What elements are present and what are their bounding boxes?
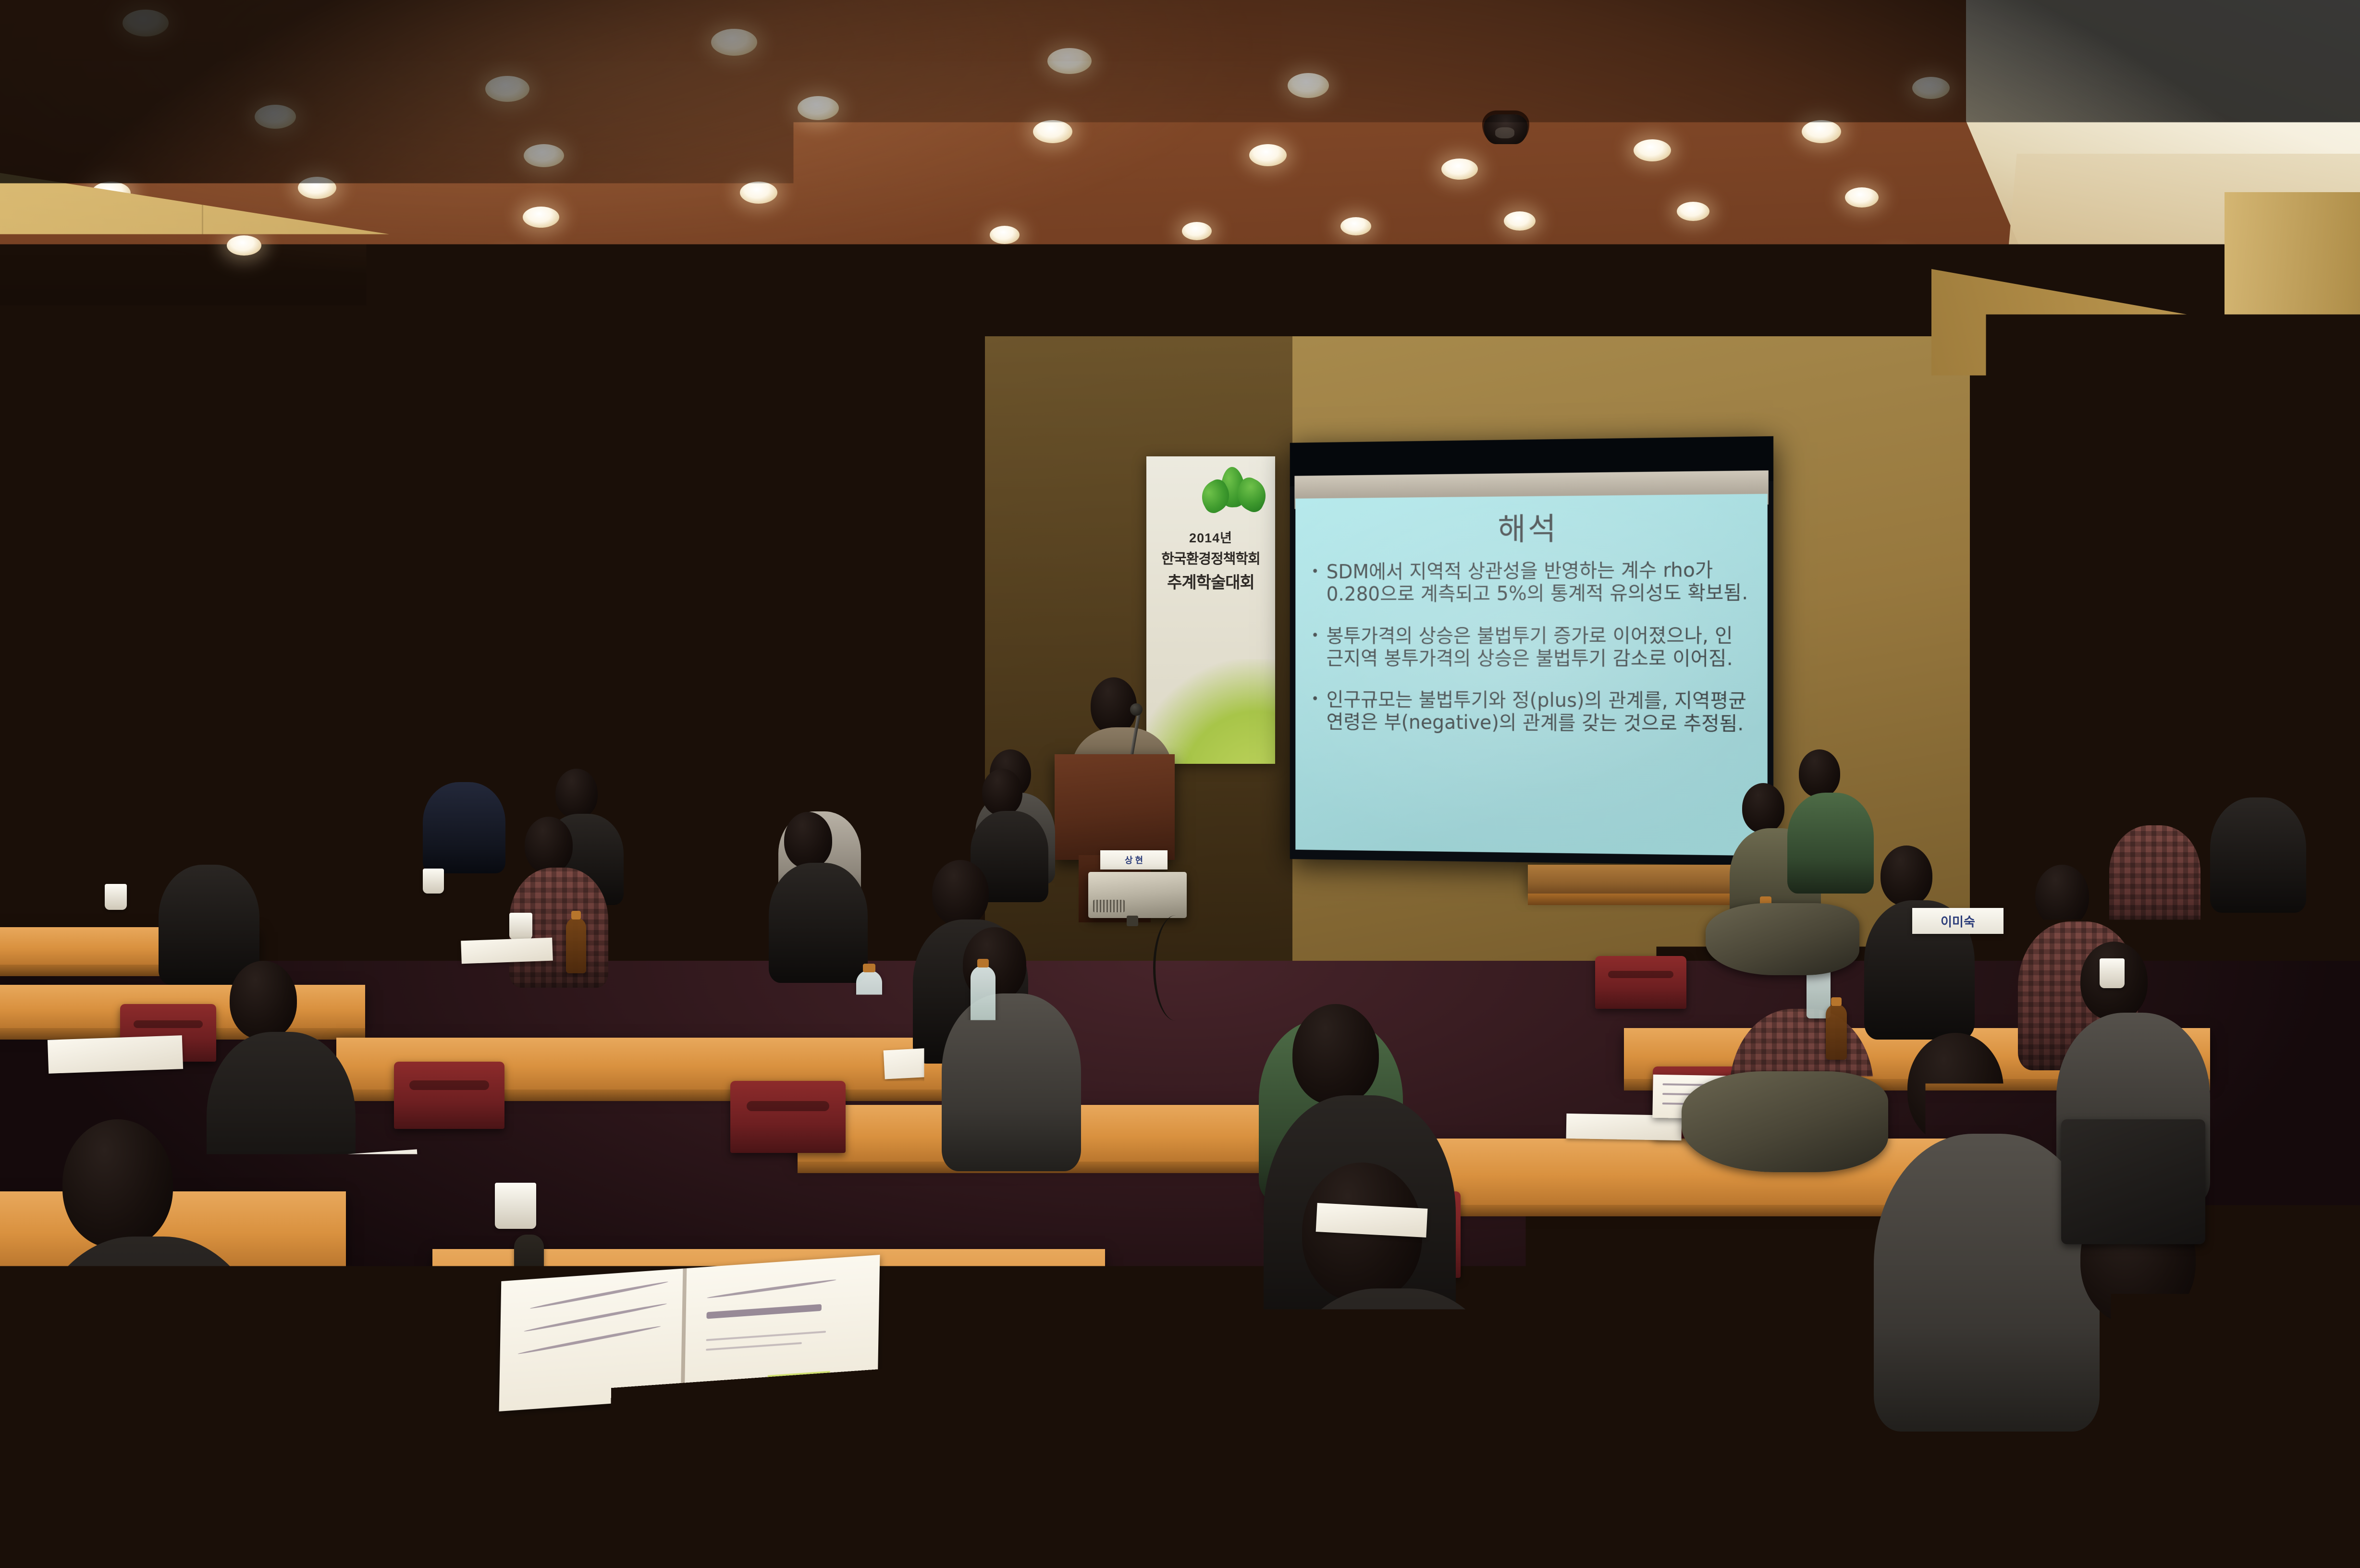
downlight (1384, 288, 1412, 305)
handout-paper (461, 938, 553, 964)
downlight (524, 144, 564, 167)
downlight (990, 226, 1020, 244)
proceedings-booklet (1551, 948, 1711, 991)
downlight (1047, 287, 1075, 304)
emergency-exit-sign: 비상구 (1945, 458, 2016, 497)
sponsor-1-name-en: The Seoul Institute (1818, 686, 1858, 691)
downlight (1441, 159, 1478, 180)
host-logo-icon: ▲ (1790, 637, 1805, 651)
chair[interactable] (394, 1062, 504, 1129)
downlight (1249, 144, 1287, 166)
leaf-logo-icon (1198, 465, 1270, 517)
paper-cup (509, 913, 532, 940)
downlight (1634, 139, 1671, 161)
handout-paper (1537, 926, 1634, 952)
sponsor-1-name-ko: 서울연구원 (1818, 679, 1858, 686)
downlight (298, 177, 336, 199)
banner-right-org: 한국환경정책학회 (1782, 519, 1912, 540)
water-bottle (856, 970, 882, 1042)
paper-cup (2100, 958, 2125, 988)
downlight (798, 96, 839, 120)
name-placard: 상 현 (1100, 850, 1168, 870)
downlight (1033, 120, 1072, 143)
microphone-head-icon (1130, 703, 1143, 716)
downlight (1557, 283, 1586, 301)
downlight (1879, 259, 1910, 278)
bullet-marker-icon: • (1311, 562, 1319, 606)
conference-room-scene: 비상구 2014년 한국환경정책학회 추계학술대회 일 시 : 2014년 10… (0, 0, 2360, 1568)
name-placard: 이미숙 (1912, 908, 2004, 934)
shoulder-bag (519, 1090, 649, 1191)
banner-left-org: 한국환경정책학회 (1151, 548, 1270, 568)
proceedings-booklet (927, 1054, 1087, 1098)
slide-bullet-2-text: 봉투가격의 상승은 불법투기 증가로 이어졌으나, 인근지역 봉투가격의 상승은… (1327, 625, 1751, 671)
banner-right-year: 2014년 (1782, 499, 1912, 518)
banner-left-sub: 추계학술대회 (1151, 569, 1270, 593)
beverage-bottle (1826, 1004, 1847, 1060)
banner-left: 2014년 한국환경정책학회 추계학술대회 일 시 : 2014년 10월 21… (1146, 456, 1275, 764)
door-closer (2032, 519, 2104, 535)
banner-left-year: 2014년 (1151, 527, 1270, 546)
downlight (1845, 187, 1879, 208)
slide-bullet-1-text: SDM에서 지역적 상관성을 반영하는 계수 rho가 0.280으로 계측되고… (1327, 559, 1751, 606)
slide-bullet-3-text: 인구규모는 불법투기와 정(plus)의 관계를, 지역평균연령은 부(nega… (1327, 689, 1751, 736)
ceiling-dome-camera-icon (1484, 114, 1528, 144)
water-bottle (971, 966, 996, 1036)
sponsor-label: 후 원 : (1790, 664, 1912, 674)
banner-left-place-label: 장 소 : (1158, 693, 1270, 702)
downlight (523, 207, 559, 228)
downlight (1677, 202, 1709, 221)
paper-cup (1624, 882, 1646, 907)
slide-bullet-1: • SDM에서 지역적 상관성을 반영하는 계수 rho가 0.280으로 계측… (1311, 559, 1751, 606)
banner-right-sub: 추계학술대회 (1782, 542, 1912, 567)
paper-cup (105, 884, 127, 910)
host-name: 한국환경정책학회 (1808, 638, 1868, 650)
downlight (485, 76, 529, 102)
draped-coat (1682, 1071, 1888, 1172)
sponsor-2-name-ko: 한국환경산업기술원 (1821, 701, 1873, 710)
slide-title: 해석 (1311, 512, 1751, 547)
downlight (711, 29, 757, 56)
downlight (1710, 274, 1740, 291)
running-person-icon (1951, 469, 1960, 485)
leaf-logo-icon (1835, 430, 1912, 486)
seoul-institute-logo-icon (1790, 678, 1814, 691)
downlight (1047, 48, 1092, 74)
downlight (255, 105, 296, 129)
handout-paper (1316, 1203, 1428, 1237)
bullet-marker-icon: • (1311, 689, 1319, 734)
bullet-marker-icon: • (1311, 625, 1319, 670)
keiti-logo: KEITI (1790, 698, 1817, 712)
exit-sign-label: 비상구 (1962, 474, 1976, 481)
downlight (1912, 77, 1950, 99)
banner-left-date-label: 일 시 : (1158, 656, 1270, 666)
paper-cup (423, 869, 444, 894)
downlight (1802, 120, 1841, 143)
open-proceedings-booklet-front (499, 1255, 880, 1411)
downlight (1288, 73, 1329, 98)
slide-bullet-2: • 봉투가격의 상승은 불법투기 증가로 이어졌으나, 인근지역 봉투가격의 상… (1311, 625, 1751, 671)
banner-left-date-value: 2014년 10월 21일(화) 11:00 ~ 17:30 (1158, 667, 1270, 685)
downlight (123, 10, 169, 37)
beverage-bottle (566, 918, 586, 973)
slide-bullet-3: • 인구규모는 불법투기와 정(plus)의 관계를, 지역평균연령은 부(ne… (1311, 689, 1751, 736)
downlight (1182, 222, 1212, 240)
downlight (1504, 211, 1536, 231)
downlight (706, 269, 738, 287)
backpack (2061, 1119, 2205, 1244)
downlight (1340, 217, 1371, 235)
downlight (740, 182, 777, 204)
podium (1055, 754, 1175, 860)
draped-coat (1706, 903, 1859, 975)
banner-right: 2014년 한국환경정책학회 추계학술대회 주 최 : ▲ 한국환경정책학회 후… (1778, 423, 1917, 807)
handout-paper (48, 1035, 183, 1074)
downlight (894, 279, 923, 296)
handout-paper (1571, 997, 1706, 1033)
beverage-bottle (1797, 1172, 1824, 1259)
host-label: 주 최 : (1790, 625, 1912, 634)
water-bottle (1168, 1028, 1197, 1109)
downlight (1211, 288, 1239, 305)
banner-left-place-value: 코엑스 컨퍼런스룸 (308호 A) (1158, 703, 1270, 713)
